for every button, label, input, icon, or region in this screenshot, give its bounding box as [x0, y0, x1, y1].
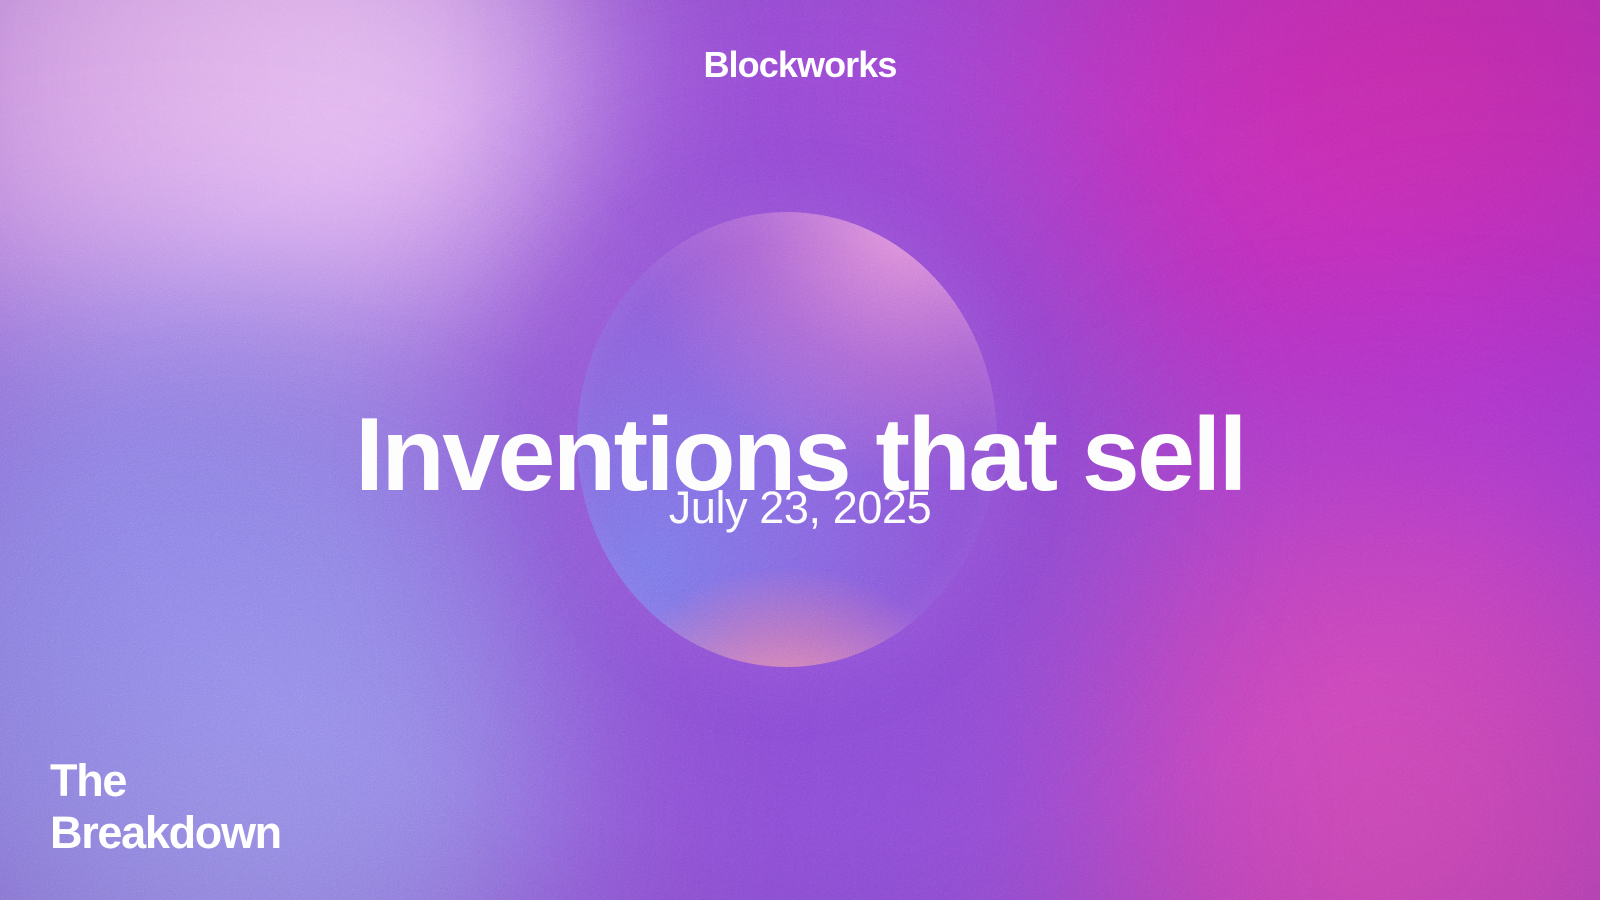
episode-date: July 23, 2025: [0, 483, 1600, 533]
show-branding: The Breakdown: [50, 755, 281, 858]
blockworks-wordmark: Blockworks: [0, 47, 1600, 83]
show-name-line-2: Breakdown: [50, 807, 281, 858]
title-card-content: Blockworks Inventions that sell July 23,…: [0, 0, 1600, 900]
podcast-title-card: Blockworks Inventions that sell July 23,…: [0, 0, 1600, 900]
show-name-line-1: The: [50, 755, 281, 806]
